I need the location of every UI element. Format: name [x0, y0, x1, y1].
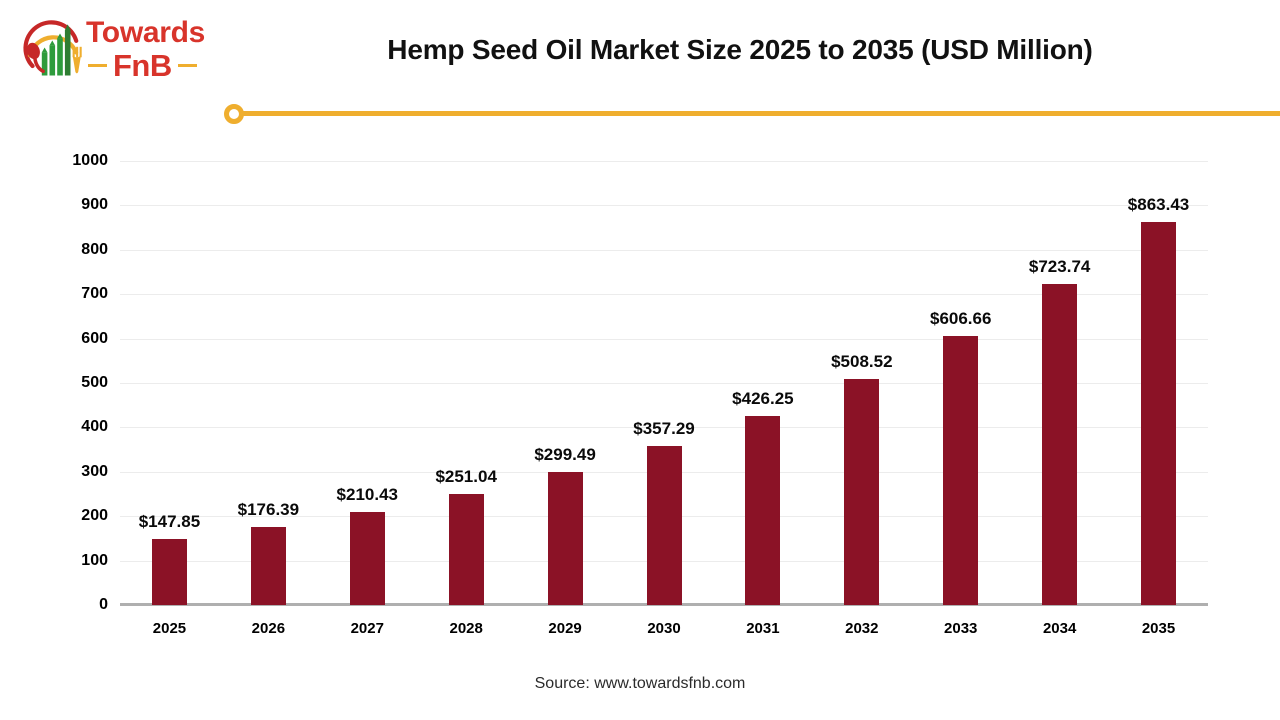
x-axis-tick-label: 2035 [1114, 620, 1204, 637]
bar[interactable] [251, 527, 286, 605]
x-axis-tick-label: 2029 [520, 620, 610, 637]
bar-group[interactable]: $863.43 [1141, 161, 1176, 605]
bar-group[interactable]: $147.85 [152, 161, 187, 605]
bar-group[interactable]: $723.74 [1042, 161, 1077, 605]
bar-group[interactable]: $299.49 [548, 161, 583, 605]
bars-layer: $147.85$176.39$210.43$251.04$299.49$357.… [0, 161, 1280, 605]
bar-value-label: $606.66 [930, 310, 991, 327]
bar[interactable] [1141, 222, 1176, 605]
bar[interactable] [647, 446, 682, 605]
chart-plot: 10009008007006005004003002001000 $147.85… [0, 0, 1280, 720]
bar[interactable] [152, 539, 187, 605]
bar-value-label: $251.04 [435, 468, 496, 485]
x-axis-tick-label: 2025 [124, 620, 214, 637]
bar[interactable] [449, 494, 484, 605]
bar[interactable] [745, 416, 780, 605]
bar-group[interactable]: $210.43 [350, 161, 385, 605]
chart-page: Towards FnB Hemp Seed Oil Market Size 20… [0, 0, 1280, 720]
bar-value-label: $723.74 [1029, 258, 1090, 275]
x-axis-tick-label: 2030 [619, 620, 709, 637]
x-axis-tick-label: 2026 [223, 620, 313, 637]
bar-value-label: $426.25 [732, 390, 793, 407]
bar[interactable] [1042, 284, 1077, 605]
bar[interactable] [548, 472, 583, 605]
bar[interactable] [844, 379, 879, 605]
source-note: Source: www.towardsfnb.com [0, 675, 1280, 693]
x-axis-tick-label: 2028 [421, 620, 511, 637]
bar-group[interactable]: $357.29 [647, 161, 682, 605]
bar-group[interactable]: $426.25 [745, 161, 780, 605]
bar-group[interactable]: $251.04 [449, 161, 484, 605]
x-axis-tick-label: 2031 [718, 620, 808, 637]
bar-value-label: $147.85 [139, 513, 200, 530]
x-axis-tick-label: 2034 [1015, 620, 1105, 637]
bar-value-label: $176.39 [238, 501, 299, 518]
bar-group[interactable]: $606.66 [943, 161, 978, 605]
x-axis-tick-label: 2033 [916, 620, 1006, 637]
bar[interactable] [943, 336, 978, 605]
x-axis-tick-label: 2027 [322, 620, 412, 637]
bar-group[interactable]: $176.39 [251, 161, 286, 605]
bar-value-label: $299.49 [534, 446, 595, 463]
bar-group[interactable]: $508.52 [844, 161, 879, 605]
x-axis-tick-label: 2032 [817, 620, 907, 637]
bar-value-label: $508.52 [831, 353, 892, 370]
bar[interactable] [350, 512, 385, 605]
bar-value-label: $210.43 [337, 486, 398, 503]
bar-value-label: $357.29 [633, 420, 694, 437]
bar-value-label: $863.43 [1128, 196, 1189, 213]
